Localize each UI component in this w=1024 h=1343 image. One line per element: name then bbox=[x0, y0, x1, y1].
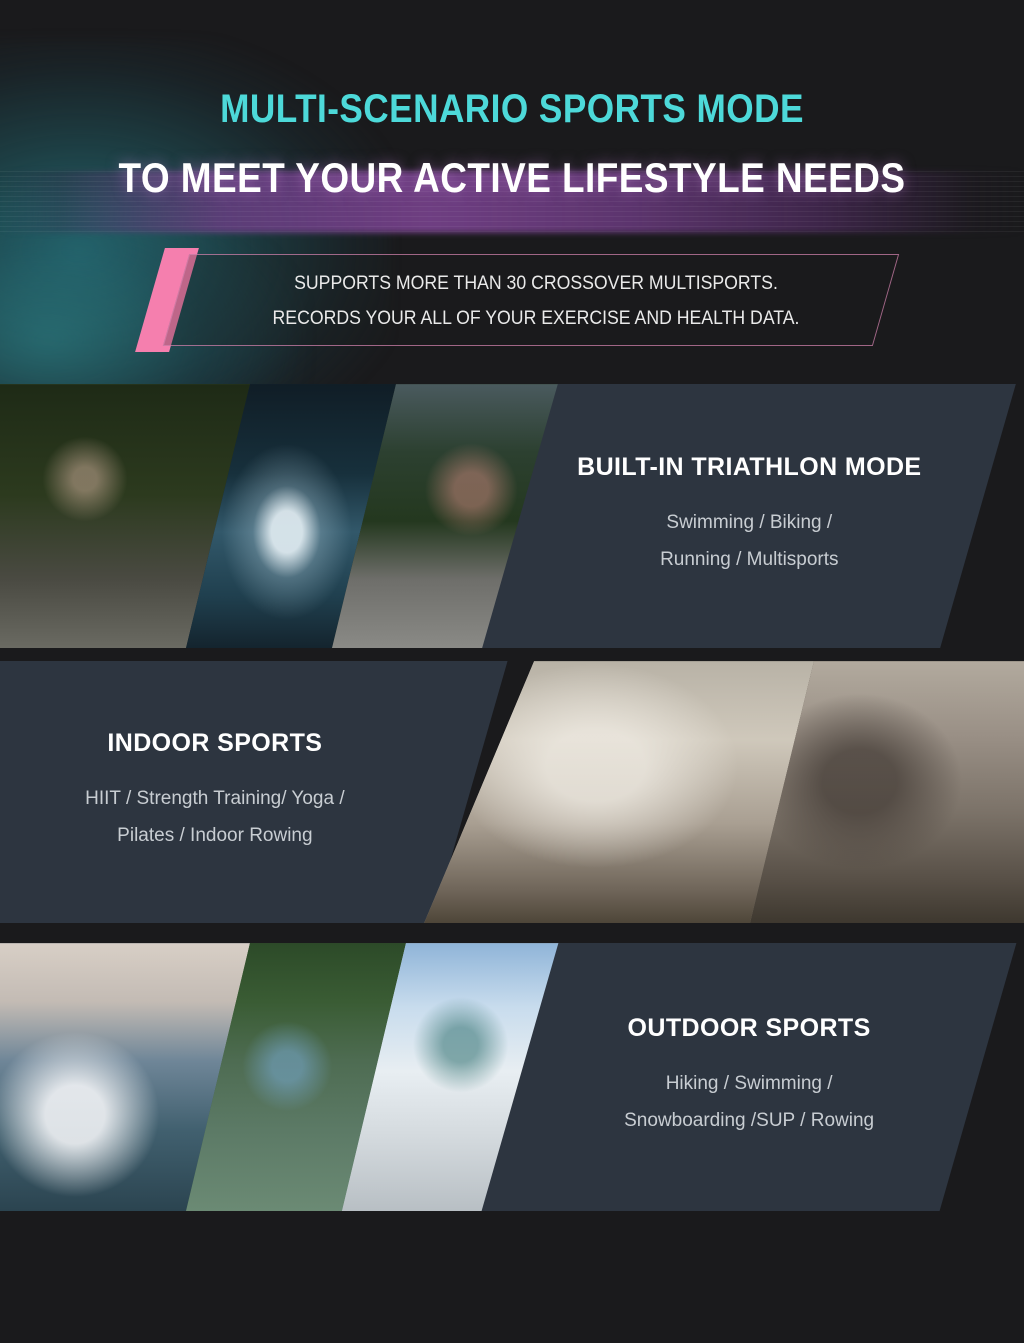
subtitle-line-1: SUPPORTS MORE THAN 30 CROSSOVER MULTISPO… bbox=[220, 266, 852, 301]
section-line-1-outdoor: Hiking / Swimming / bbox=[624, 1066, 874, 1103]
section-title-indoor: INDOOR SPORTS bbox=[85, 730, 344, 759]
section-title-outdoor: OUTDOOR SPORTS bbox=[624, 1015, 874, 1044]
subtitle-block: SUPPORTS MORE THAN 30 CROSSOVER MULTISPO… bbox=[0, 248, 1024, 358]
subtitle-text: SUPPORTS MORE THAN 30 CROSSOVER MULTISPO… bbox=[220, 266, 852, 336]
section-line-2-triathlon: Running / Multisports bbox=[577, 542, 921, 579]
page-title-secondary: TO MEET YOUR ACTIVE LIFESTYLE NEEDS bbox=[61, 156, 962, 200]
page-title-primary: MULTI-SCENARIO SPORTS MODE bbox=[61, 88, 962, 130]
section-triathlon: BUILT-IN TRIATHLON MODE Swimming / Bikin… bbox=[0, 384, 1024, 648]
subtitle-line-2: RECORDS YOUR ALL OF YOUR EXERCISE AND HE… bbox=[220, 301, 852, 336]
page-header: MULTI-SCENARIO SPORTS MODE TO MEET YOUR … bbox=[0, 0, 1024, 200]
section-line-1-triathlon: Swimming / Biking / bbox=[577, 505, 921, 542]
text-panel-indoor: INDOOR SPORTS HIIT / Strength Training/ … bbox=[0, 661, 508, 923]
section-outdoor: OUTDOOR SPORTS Hiking / Swimming / Snowb… bbox=[0, 943, 1024, 1211]
text-panel-triathlon: BUILT-IN TRIATHLON MODE Swimming / Bikin… bbox=[482, 384, 1016, 648]
text-panel-outdoor: OUTDOOR SPORTS Hiking / Swimming / Snowb… bbox=[482, 943, 1017, 1211]
section-indoor: INDOOR SPORTS HIIT / Strength Training/ … bbox=[0, 661, 1024, 923]
photo-strip-indoor bbox=[424, 661, 1024, 923]
section-title-triathlon: BUILT-IN TRIATHLON MODE bbox=[577, 454, 921, 483]
section-line-1-indoor: HIIT / Strength Training/ Yoga / bbox=[85, 781, 344, 818]
section-line-2-indoor: Pilates / Indoor Rowing bbox=[85, 818, 344, 855]
section-line-2-outdoor: Snowboarding /SUP / Rowing bbox=[624, 1103, 874, 1140]
